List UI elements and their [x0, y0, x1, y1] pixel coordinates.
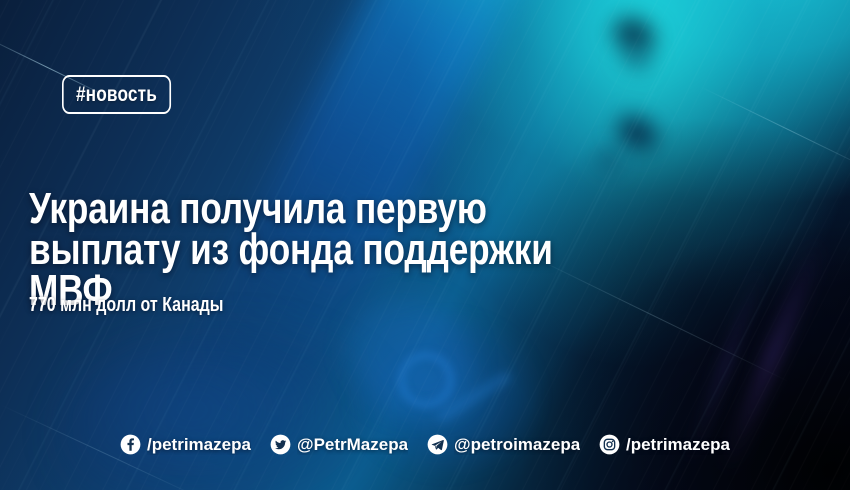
social-handle: /petrimazepa: [626, 435, 730, 454]
social-handle: /petrimazepa: [147, 435, 251, 454]
facebook-icon: [120, 434, 141, 455]
social-handle: @petroimazepa: [454, 435, 580, 454]
social-links-bar: /petrimazepa @PetrMazepa: [0, 434, 850, 455]
social-link-facebook[interactable]: /petrimazepa: [120, 434, 251, 455]
social-handle: @PetrMazepa: [297, 435, 408, 454]
news-card: #новость Украина получила первую выплату…: [0, 0, 850, 490]
social-link-telegram[interactable]: @petroimazepa: [427, 434, 580, 455]
subtitle: 770 млн долл от Канады: [29, 294, 223, 317]
instagram-icon: [599, 434, 620, 455]
twitter-icon: [270, 434, 291, 455]
social-link-twitter[interactable]: @PetrMazepa: [270, 434, 408, 455]
category-badge[interactable]: #новость: [62, 75, 171, 114]
card-content: #новость Украина получила первую выплату…: [0, 0, 850, 490]
social-link-instagram[interactable]: /petrimazepa: [599, 434, 730, 455]
page-title: Украина получила первую выплату из фонда…: [29, 188, 637, 311]
telegram-icon: [427, 434, 448, 455]
